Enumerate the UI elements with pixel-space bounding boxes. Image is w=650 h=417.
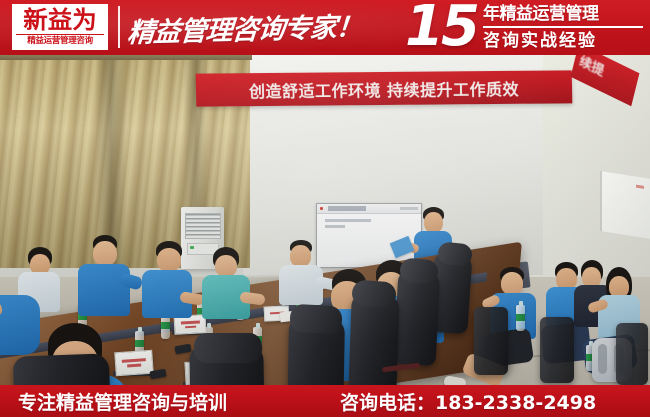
office-chair <box>540 317 574 383</box>
years-text-block: 年精益运营管理 咨询实战经验 <box>483 3 645 52</box>
promo-banner-card: 新益为 精益运营管理咨询 精益管理咨询专家！ 15 年精益运营管理 咨询实战经验 <box>0 0 650 417</box>
meeting-room-photo: 创造舒适工作环境 持续提升工作质效 续提 <box>0 55 650 385</box>
name-card-line <box>180 321 199 324</box>
presenter-head <box>424 212 443 233</box>
logo-sub-text: 精益运营管理咨询 <box>27 36 93 46</box>
screen-window-controls <box>400 207 418 210</box>
attendee-torso <box>0 295 40 355</box>
attendee-head <box>290 245 311 267</box>
wall-banner-main: 创造舒适工作环境 持续提升工作质效 <box>196 70 573 106</box>
header-slogan: 精益管理咨询专家！ <box>128 2 396 52</box>
screen-window-titlebar <box>317 204 421 214</box>
logo-main-text: 新益为 <box>23 7 96 33</box>
attendee-head <box>93 241 117 266</box>
office-chair-headrest <box>399 257 439 284</box>
years-divider-rule <box>483 26 643 28</box>
water-bottle <box>516 305 525 331</box>
right-wall-whiteboard <box>600 171 650 239</box>
office-chair-headrest <box>351 279 397 308</box>
office-chair <box>474 307 508 375</box>
office-chair <box>13 353 112 385</box>
backpack-strap <box>598 344 607 374</box>
name-card <box>114 350 154 377</box>
ac-vent <box>185 213 221 239</box>
footer-phone[interactable]: 咨询电话：183-2338-2498 <box>340 385 596 417</box>
wall-banner-main-text: 创造舒适工作环境 持续提升工作质效 <box>249 75 520 101</box>
screen-window-icon <box>320 207 323 210</box>
name-card-line <box>122 358 146 363</box>
office-chair <box>616 323 648 385</box>
office-chair-headrest <box>194 333 262 363</box>
attendee-head <box>157 248 181 272</box>
years-number: 15 <box>405 0 477 55</box>
curtain-rod <box>0 55 252 60</box>
header-vertical-divider <box>118 6 120 48</box>
attendee-head <box>215 255 237 277</box>
ac-power-led <box>190 246 194 249</box>
wall-banner-side-text: 续提 <box>578 55 607 80</box>
company-logo[interactable]: 新益为 精益运营管理咨询 <box>12 4 108 50</box>
years-line-two: 咨询实战经验 <box>483 30 645 52</box>
footer-tagline-text: 专注精益管理咨询与培训 <box>18 388 227 415</box>
footer-bar: 专注精益管理咨询与培训 咨询电话：183-2338-2498 <box>0 385 650 417</box>
attendee-head <box>501 272 523 295</box>
header-bar: 新益为 精益运营管理咨询 精益管理咨询专家！ 15 年精益运营管理 咨询实战经验 <box>0 0 650 55</box>
screen-window-title <box>328 206 366 211</box>
office-chair-headrest <box>289 304 342 335</box>
attendee-torso <box>78 264 130 316</box>
name-card-line <box>127 364 141 368</box>
years-line-one: 年精益运营管理 <box>483 3 645 25</box>
whiteboard-marking <box>636 185 644 189</box>
screen-text-line <box>325 219 371 222</box>
footer-phone-text: 咨询电话：183-2338-2498 <box>340 388 596 415</box>
footer-tagline: 专注精益管理咨询与培训 <box>18 385 227 417</box>
header-slogan-text: 精益管理咨询专家！ <box>126 4 364 49</box>
screen-text-line <box>325 225 345 228</box>
name-card-line <box>185 325 196 328</box>
